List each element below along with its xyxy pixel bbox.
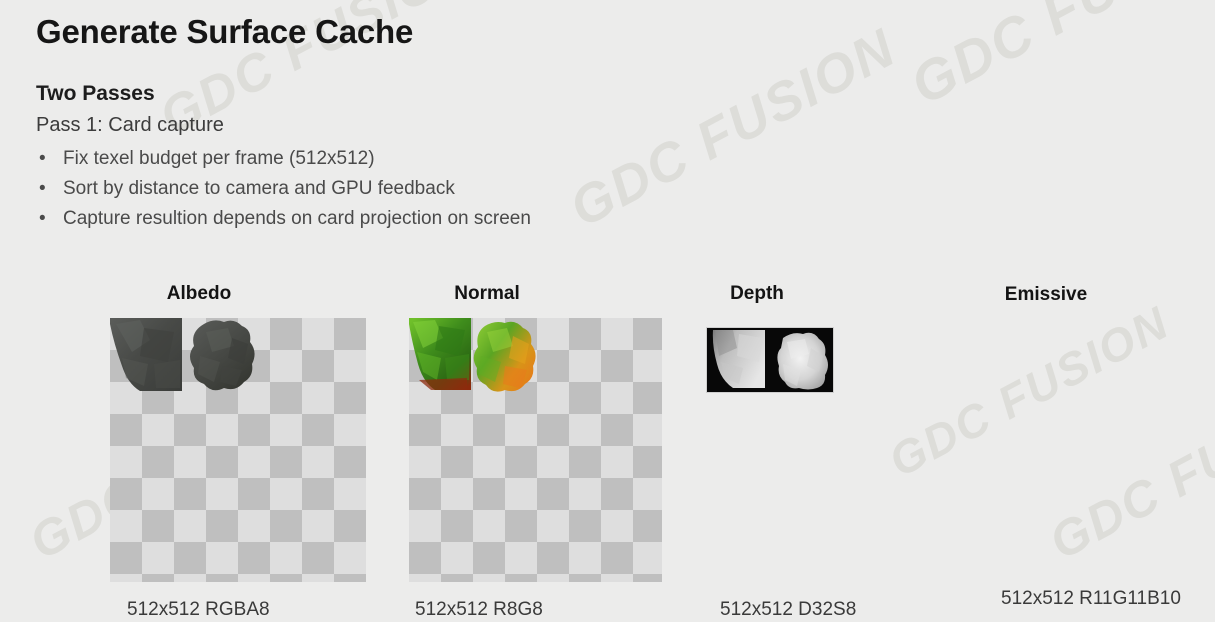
list-item-label: Capture resultion depends on card projec… [63, 208, 531, 229]
depth-texture-thumbnail [706, 327, 834, 393]
bullet-icon: • [39, 174, 46, 204]
format-label-depth: 512x512 D32S8 [720, 599, 856, 621]
normal-texture-thumbnails [409, 318, 543, 398]
column-header-emissive: Emissive [1005, 284, 1087, 306]
list-item: • Fix texel budget per frame (512x512) [36, 144, 531, 174]
column-header-depth: Depth [730, 283, 784, 305]
section-subheading: Two Passes [36, 82, 155, 106]
column-header-albedo: Albedo [167, 283, 231, 305]
column-header-normal: Normal [454, 283, 519, 305]
list-item: • Sort by distance to camera and GPU fee… [36, 174, 531, 204]
bullet-icon: • [39, 144, 46, 174]
format-label-albedo: 512x512 RGBA8 [127, 599, 270, 621]
bullet-list: • Fix texel budget per frame (512x512) •… [36, 144, 531, 234]
albedo-texture-thumbnails [110, 318, 260, 398]
list-item: • Capture resultion depends on card proj… [36, 204, 531, 234]
list-item-label: Fix texel budget per frame (512x512) [63, 148, 375, 169]
format-label-normal: 512x512 R8G8 [415, 599, 543, 621]
list-item-label: Sort by distance to camera and GPU feedb… [63, 178, 455, 199]
page-title: Generate Surface Cache [36, 13, 413, 51]
pass-label: Pass 1: Card capture [36, 114, 224, 137]
slide-root: Generate Surface Cache Two Passes Pass 1… [0, 0, 1215, 622]
bullet-icon: • [39, 204, 46, 234]
format-label-emissive: 512x512 R11G11B10 [1001, 588, 1181, 610]
